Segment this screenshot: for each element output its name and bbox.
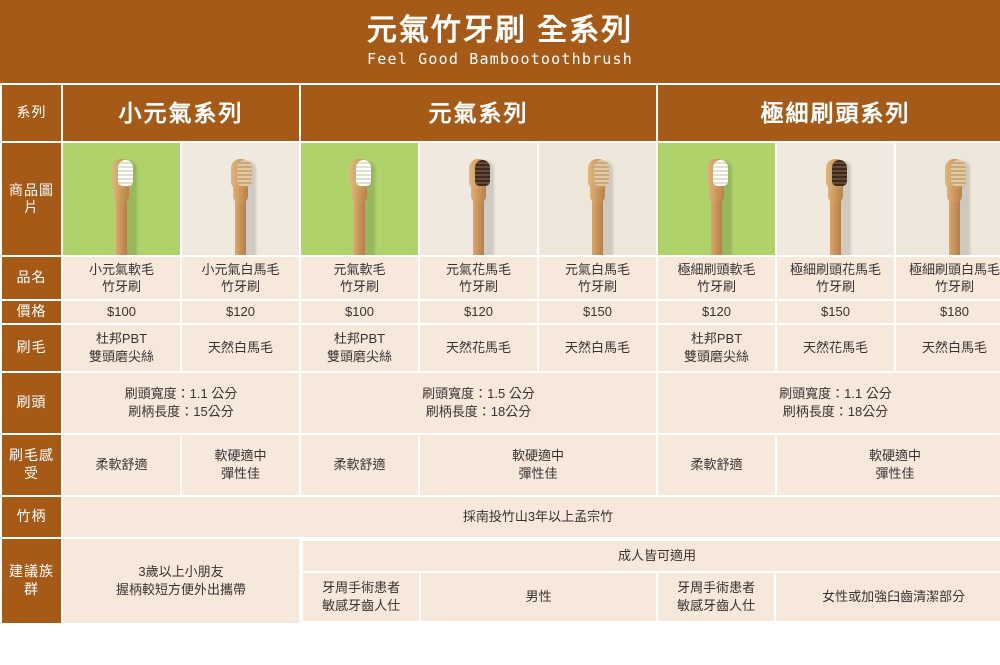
photo-backdrop (658, 143, 775, 255)
product-name-line2: 竹牙刷 (422, 278, 535, 295)
photo-backdrop (539, 143, 656, 255)
product-name-4: 元氣花馬毛 竹牙刷 (420, 257, 537, 299)
feel-cell-1: 柔軟舒適 (63, 435, 180, 495)
product-name-line1: 小元氣軟毛 (65, 261, 178, 278)
head-spec-width: 刷頭寬度：1.5 公分 (303, 385, 654, 402)
head-spec-width: 刷頭寬度：1.1 公分 (660, 385, 1000, 402)
product-name-line1: 小元氣白馬毛 (184, 261, 297, 278)
product-name-line1: 元氣白馬毛 (541, 261, 654, 278)
product-name-line1: 極細刷頭軟毛 (660, 261, 773, 278)
product-name-2: 小元氣白馬毛 竹牙刷 (182, 257, 299, 299)
product-name-8: 極細刷頭白馬毛 竹牙刷 (896, 257, 1000, 299)
head-spec-length: 刷柄長度：18公分 (303, 403, 654, 420)
product-photo-3[interactable] (301, 143, 418, 255)
bristle-cell-2: 天然白馬毛 (182, 325, 299, 371)
feel-line2: 彈性佳 (779, 465, 1000, 482)
series-header-slim: 極細刷頭系列 (658, 85, 1000, 141)
table-row-product-images: 商品圖片 (2, 143, 1000, 255)
table-row-series: 系列 小元氣系列 元氣系列 極細刷頭系列 (2, 85, 1000, 141)
photo-backdrop (63, 143, 180, 255)
table-row-bristle: 刷毛 杜邦PBT 雙頭磨尖絲 天然白馬毛 杜邦PBT 雙頭磨尖絲 天然花馬毛 天… (2, 325, 1000, 371)
bristle-line1: 杜邦PBT (660, 330, 773, 347)
page-subtitle: Feel Good Bambootoothbrush (367, 50, 633, 70)
audience-adult-header: 成人皆可適用 (303, 541, 1000, 571)
bristle-cell-7: 天然花馬毛 (777, 325, 894, 371)
feel-cell-3: 柔軟舒適 (301, 435, 418, 495)
bristle-line1: 杜邦PBT (303, 330, 416, 347)
bristle-line1: 天然白馬毛 (898, 339, 1000, 356)
audience-kids-line2: 握柄較短方便外出攜帶 (65, 581, 297, 598)
product-name-line1: 元氣軟毛 (303, 261, 416, 278)
row-label-product-image: 商品圖片 (2, 143, 61, 255)
feel-cell-5: 柔軟舒適 (658, 435, 775, 495)
row-label-price: 價格 (2, 301, 61, 323)
feel-cell-6: 軟硬適中 彈性佳 (777, 435, 1000, 495)
toothbrush-icon (105, 157, 139, 255)
toothbrush-icon (462, 157, 496, 255)
table-row-feel: 刷毛感受 柔軟舒適 軟硬適中 彈性佳 柔軟舒適 軟硬適中 彈性佳 柔軟舒適 (2, 435, 1000, 495)
price-cell-8: $180 (896, 301, 1000, 323)
product-name-5: 元氣白馬毛 竹牙刷 (539, 257, 656, 299)
product-name-line2: 竹牙刷 (779, 278, 892, 295)
bristle-line1: 天然花馬毛 (422, 339, 535, 356)
toothbrush-icon (343, 157, 377, 255)
head-spec-small: 刷頭寬度：1.1 公分 刷柄長度：15公分 (63, 373, 299, 433)
feel-line1: 柔軟舒適 (660, 456, 773, 473)
audience-sub-3: 牙周手術患者 敏感牙齒人仕 (658, 573, 774, 621)
row-label-handle: 竹柄 (2, 497, 61, 537)
product-name-7: 極細刷頭花馬毛 竹牙刷 (777, 257, 894, 299)
row-label-product-name: 品名 (2, 257, 61, 299)
feel-line2: 彈性佳 (184, 465, 297, 482)
bristle-line1: 杜邦PBT (65, 330, 178, 347)
feel-line2: 彈性佳 (422, 465, 654, 482)
toothbrush-icon (224, 157, 258, 255)
audience-sub-4: 女性或加強臼齒清潔部分 (776, 573, 1000, 621)
product-name-line2: 竹牙刷 (303, 278, 416, 295)
bristle-line2: 雙頭磨尖絲 (65, 348, 178, 365)
bristle-line2: 雙頭磨尖絲 (303, 348, 416, 365)
product-name-3: 元氣軟毛 竹牙刷 (301, 257, 418, 299)
bristle-line2: 雙頭磨尖絲 (660, 348, 773, 365)
product-name-line1: 元氣花馬毛 (422, 261, 535, 278)
table-row-price: 價格 $100 $120 $100 $120 $150 $120 $150 $1… (2, 301, 1000, 323)
product-photo-8[interactable] (896, 143, 1000, 255)
audience-adults-group: 成人皆可適用 牙周手術患者 敏感牙齒人仕 男性 (301, 539, 1000, 623)
product-name-line1: 極細刷頭白馬毛 (898, 261, 1000, 278)
product-photo-6[interactable] (658, 143, 775, 255)
comparison-table: 系列 小元氣系列 元氣系列 極細刷頭系列 商品圖片 (0, 83, 1000, 625)
price-cell-3: $100 (301, 301, 418, 323)
head-spec-length: 刷柄長度：15公分 (65, 403, 297, 420)
page-title: 元氣竹牙刷 全系列 (367, 13, 633, 48)
product-name-line2: 竹牙刷 (898, 278, 1000, 295)
price-cell-6: $120 (658, 301, 775, 323)
toothbrush-icon (819, 157, 853, 255)
product-photo-7[interactable] (777, 143, 894, 255)
product-photo-5[interactable] (539, 143, 656, 255)
head-spec-slim: 刷頭寬度：1.1 公分 刷柄長度：18公分 (658, 373, 1000, 433)
product-name-line2: 竹牙刷 (65, 278, 178, 295)
product-name-line2: 竹牙刷 (660, 278, 773, 295)
feel-cell-2: 軟硬適中 彈性佳 (182, 435, 299, 495)
product-photo-2[interactable] (182, 143, 299, 255)
feel-line1: 軟硬適中 (779, 447, 1000, 464)
toothbrush-icon (938, 157, 972, 255)
product-comparison-page: 元氣竹牙刷 全系列 Feel Good Bambootoothbrush 系列 … (0, 0, 1000, 665)
price-cell-5: $150 (539, 301, 656, 323)
bristle-cell-4: 天然花馬毛 (420, 325, 537, 371)
page-banner: 元氣竹牙刷 全系列 Feel Good Bambootoothbrush (0, 0, 1000, 83)
audience-sub-2: 男性 (421, 573, 656, 621)
product-name-1: 小元氣軟毛 竹牙刷 (63, 257, 180, 299)
price-cell-1: $100 (63, 301, 180, 323)
audience-subrow-detail: 牙周手術患者 敏感牙齒人仕 男性 牙周手術患者 敏感牙齒人仕 (303, 573, 1000, 621)
product-photo-4[interactable] (420, 143, 537, 255)
bristle-cell-1: 杜邦PBT 雙頭磨尖絲 (63, 325, 180, 371)
price-cell-2: $120 (182, 301, 299, 323)
toothbrush-icon (700, 157, 734, 255)
toothbrush-icon (581, 157, 615, 255)
audience-sub-line1: 牙周手術患者 (660, 579, 772, 596)
product-photo-1[interactable] (63, 143, 180, 255)
bristle-cell-8: 天然白馬毛 (896, 325, 1000, 371)
audience-subtable: 成人皆可適用 牙周手術患者 敏感牙齒人仕 男性 (301, 539, 1000, 623)
audience-sub-line2: 敏感牙齒人仕 (305, 597, 417, 614)
audience-sub-line2: 敏感牙齒人仕 (660, 597, 772, 614)
product-name-6: 極細刷頭軟毛 竹牙刷 (658, 257, 775, 299)
head-spec-regular: 刷頭寬度：1.5 公分 刷柄長度：18公分 (301, 373, 656, 433)
audience-sub-line1: 男性 (423, 588, 654, 605)
bristle-line1: 天然白馬毛 (184, 339, 297, 356)
row-label-series: 系列 (2, 85, 61, 141)
table-row-handle: 竹柄 採南投竹山3年以上孟宗竹 (2, 497, 1000, 537)
photo-backdrop (896, 143, 1000, 255)
photo-backdrop (777, 143, 894, 255)
series-header-small: 小元氣系列 (63, 85, 299, 141)
bristle-cell-5: 天然白馬毛 (539, 325, 656, 371)
audience-kids-cell: 3歲以上小朋友 握柄較短方便外出攜帶 (63, 539, 299, 623)
table-row-audience: 建議族群 3歲以上小朋友 握柄較短方便外出攜帶 成人皆可適用 (2, 539, 1000, 623)
row-label-feel: 刷毛感受 (2, 435, 61, 495)
audience-kids-line1: 3歲以上小朋友 (65, 563, 297, 580)
photo-backdrop (182, 143, 299, 255)
feel-line1: 柔軟舒適 (65, 456, 178, 473)
photo-backdrop (420, 143, 537, 255)
feel-line1: 柔軟舒適 (303, 456, 416, 473)
audience-sub-line1: 女性或加強臼齒清潔部分 (778, 588, 1000, 605)
head-spec-length: 刷柄長度：18公分 (660, 403, 1000, 420)
row-label-bristle: 刷毛 (2, 325, 61, 371)
table-row-head-spec: 刷頭 刷頭寬度：1.1 公分 刷柄長度：15公分 刷頭寬度：1.5 公分 刷柄長… (2, 373, 1000, 433)
photo-backdrop (301, 143, 418, 255)
row-label-audience: 建議族群 (2, 539, 61, 623)
bristle-cell-6: 杜邦PBT 雙頭磨尖絲 (658, 325, 775, 371)
audience-sub-line1: 牙周手術患者 (305, 579, 417, 596)
series-header-regular: 元氣系列 (301, 85, 656, 141)
feel-cell-4: 軟硬適中 彈性佳 (420, 435, 656, 495)
handle-material-cell: 採南投竹山3年以上孟宗竹 (63, 497, 1000, 537)
table-row-product-name: 品名 小元氣軟毛 竹牙刷 小元氣白馬毛 竹牙刷 元氣軟毛 竹牙刷 元氣花馬毛 竹… (2, 257, 1000, 299)
feel-line1: 軟硬適中 (422, 447, 654, 464)
product-name-line2: 竹牙刷 (541, 278, 654, 295)
audience-sub-1: 牙周手術患者 敏感牙齒人仕 (303, 573, 419, 621)
product-name-line1: 極細刷頭花馬毛 (779, 261, 892, 278)
bristle-cell-3: 杜邦PBT 雙頭磨尖絲 (301, 325, 418, 371)
price-cell-4: $120 (420, 301, 537, 323)
row-label-head: 刷頭 (2, 373, 61, 433)
product-name-line2: 竹牙刷 (184, 278, 297, 295)
audience-subrow-header: 成人皆可適用 (303, 541, 1000, 571)
feel-line1: 軟硬適中 (184, 447, 297, 464)
bristle-line1: 天然白馬毛 (541, 339, 654, 356)
price-cell-7: $150 (777, 301, 894, 323)
bristle-line1: 天然花馬毛 (779, 339, 892, 356)
head-spec-width: 刷頭寬度：1.1 公分 (65, 385, 297, 402)
